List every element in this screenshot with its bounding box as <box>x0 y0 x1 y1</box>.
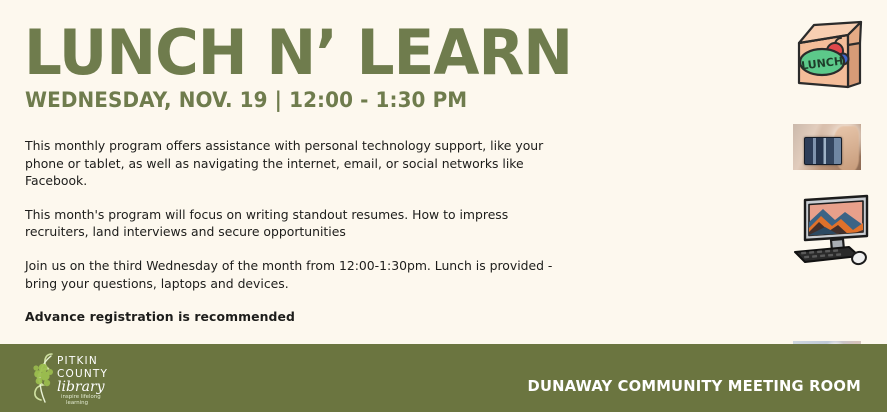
logo-line-pitkin: PITKIN <box>57 355 98 367</box>
description-paragraph-2: This month's program will focus on writi… <box>25 206 570 241</box>
tablet-photo <box>791 122 863 172</box>
event-datetime: WEDNESDAY, NOV. 19 | 12:00 - 1:30 PM <box>25 90 467 111</box>
event-description: This monthly program offers assistance w… <box>25 137 570 326</box>
logo-line-library: library <box>57 379 106 395</box>
desktop-computer-illustration <box>791 192 871 272</box>
registration-callout: Advance registration is recommended <box>25 308 570 326</box>
page-title: LUNCH N’ LEARN <box>24 22 572 84</box>
description-paragraph-1: This monthly program offers assistance w… <box>25 137 570 190</box>
logo-tagline-2: learning <box>66 400 88 406</box>
tablet-photo-screen <box>804 137 842 165</box>
fern-icon <box>33 354 53 402</box>
image-column: LUNCH <box>770 0 887 344</box>
pitkin-county-library-logo: PITKIN COUNTY library inspire lifelong l… <box>30 350 140 406</box>
lunch-bag-illustration: LUNCH <box>791 17 867 91</box>
lunch-n-learn-flyer: LUNCH N’ LEARN WEDNESDAY, NOV. 19 | 12:0… <box>0 0 887 412</box>
footer-bar: PITKIN COUNTY library inspire lifelong l… <box>0 344 887 412</box>
description-paragraph-3: Join us on the third Wednesday of the mo… <box>25 257 570 292</box>
meeting-room-label: DUNAWAY COMMUNITY MEETING ROOM <box>528 377 861 395</box>
